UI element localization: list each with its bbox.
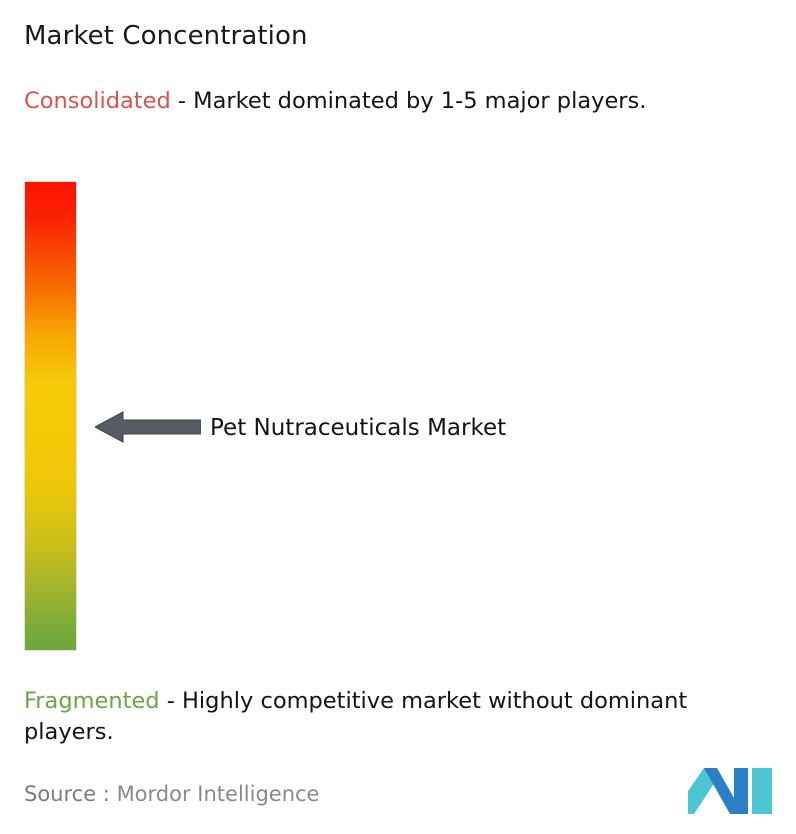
legend-fragmented: Fragmented - Highly competitive market w… [24, 686, 780, 748]
legend-fragmented-term: Fragmented [24, 688, 160, 714]
source-value: Mordor Intelligence [110, 782, 320, 806]
market-concentration-gradient-bar [25, 182, 76, 650]
left-arrow-icon [95, 410, 201, 444]
mordor-intelligence-logo [688, 768, 780, 814]
legend-consolidated: Consolidated - Market dominated by 1-5 m… [24, 86, 780, 117]
legend-consolidated-description: - Market dominated by 1-5 major players. [171, 88, 647, 114]
legend-consolidated-term: Consolidated [24, 88, 171, 114]
market-pointer-label: Pet Nutraceuticals Market [210, 413, 506, 443]
page-title: Market Concentration [24, 20, 308, 52]
source-label: Source : [24, 782, 110, 806]
source-attribution: Source : Mordor Intelligence [24, 780, 319, 808]
